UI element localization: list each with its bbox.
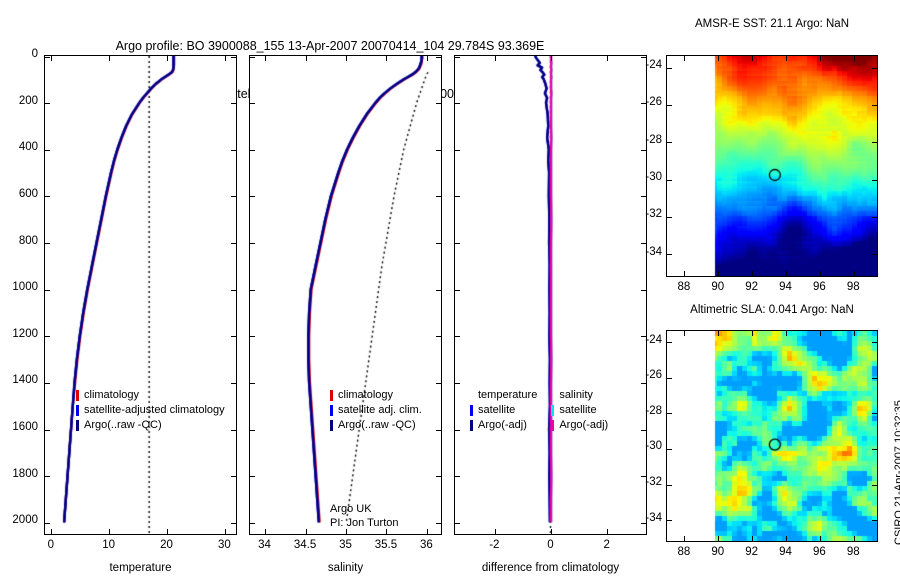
y-tick [45,430,50,431]
legend-item: satellite adj. clim. [330,403,450,418]
map-x-tick-label: 92 [737,546,767,558]
legend-item: satellite-adjusted climatology [76,403,251,418]
legend-label: satellite [559,403,596,418]
y-tick [231,476,236,477]
y-tick [641,243,646,244]
map-y-tick [872,520,877,521]
map-x-tick-label: 90 [703,546,733,558]
map-y-tick [872,449,877,450]
x-tick [427,56,428,61]
map-y-tick-label: -26 [632,369,662,381]
legend-item: climatology [76,388,251,403]
salinity-satellite-swatch [551,405,554,416]
y-tick [45,57,50,58]
y-tick [436,383,441,384]
y-tick [455,57,460,58]
map-x-tick [718,536,719,541]
y-tick-label: 1400 [0,374,38,386]
y-tick [45,243,50,244]
y-tick [231,57,236,58]
x-tick [109,56,110,61]
map-x-tick [684,331,685,336]
x-tick [607,529,608,534]
y-tick [45,523,50,524]
y-tick-label: 1200 [0,328,38,340]
x-tick [495,56,496,61]
x-tick [51,529,52,534]
y-tick [455,150,460,151]
map-y-tick [872,342,877,343]
map-y-tick [667,449,672,450]
map-y-tick [667,342,672,343]
y-tick-label: 600 [0,188,38,200]
program-name: Argo UK [330,502,398,516]
legend-label: climatology [84,388,139,403]
y-tick [641,150,646,151]
map-x-tick [820,56,821,61]
temperature-satellite-swatch [470,405,473,416]
map-x-tick [718,56,719,61]
legend-item: Argo(-adj) [470,418,537,433]
map-x-tick [718,271,719,276]
title-line-1: Argo profile: BO 3900088_155 13-Apr-2007… [0,38,660,54]
map-x-tick-label: 98 [838,546,868,558]
difference-axis-label: difference from climatology [454,562,647,574]
difference-legend-temperature: temperature satellite Argo(-adj) [470,388,537,433]
legend-label: satellite adj. clim. [338,403,422,418]
y-tick [641,290,646,291]
difference-legend-salinity: salinity satellite Argo(-adj) [551,388,608,433]
map-x-tick [854,536,855,541]
x-tick [551,56,552,61]
y-tick-label: 200 [0,95,38,107]
y-tick-label: 0 [0,48,38,60]
x-tick-label: 35 [326,539,366,551]
map-x-tick [854,331,855,336]
temperature-profile-canvas [45,56,236,534]
legend-header: temperature [470,388,537,403]
map-x-tick [854,56,855,61]
map-y-tick-label: -26 [632,96,662,108]
map-x-tick-label: 94 [771,281,801,293]
legend-item: Argo(..raw -QC) [76,418,251,433]
y-tick [641,57,646,58]
x-tick [265,56,266,61]
x-tick-label: 20 [147,539,187,551]
y-tick [436,243,441,244]
sla-map-canvas [667,331,877,541]
map-y-tick [667,378,672,379]
map-y-tick-label: -28 [632,134,662,146]
x-tick-label: 0 [531,539,571,551]
principal-investigator: PI: Jon Turton [330,516,398,530]
map-x-tick [786,271,787,276]
legend-item: satellite [551,403,608,418]
y-tick [250,290,255,291]
map-x-tick-label: 90 [703,281,733,293]
x-tick [306,56,307,61]
sst-map-title: AMSR-E SST: 21.1 Argo: NaN [666,18,878,30]
temperature-axis-label: temperature [44,562,237,574]
y-tick [436,523,441,524]
map-y-tick-label: -34 [632,246,662,258]
map-y-tick [667,105,672,106]
y-tick [455,523,460,524]
map-x-tick [684,271,685,276]
y-tick [436,290,441,291]
y-tick-label: 1000 [0,281,38,293]
difference-profile-canvas [455,56,646,534]
map-y-tick [667,485,672,486]
map-y-tick [872,217,877,218]
map-y-tick-label: -30 [632,440,662,452]
x-tick-label: 34.5 [285,539,325,551]
legend-label: climatology [338,388,393,403]
y-tick [45,103,50,104]
y-tick [45,476,50,477]
legend-item: satellite [470,403,537,418]
map-y-tick [667,520,672,521]
y-tick [250,336,255,337]
map-x-tick [752,56,753,61]
y-tick [250,430,255,431]
sst-map-canvas [667,56,877,276]
map-x-tick-label: 92 [737,281,767,293]
y-tick [231,103,236,104]
salinity-profile-panel[interactable] [249,55,442,535]
map-y-tick [872,413,877,414]
argo-swatch [76,420,79,431]
x-tick [306,529,307,534]
temperature-profile-panel[interactable] [44,55,237,535]
y-tick [641,383,646,384]
y-tick [45,383,50,384]
legend-label: Argo(-adj) [559,418,608,433]
map-y-tick [872,378,877,379]
y-tick-label: 800 [0,235,38,247]
map-y-tick-label: -24 [632,334,662,346]
map-x-tick [820,331,821,336]
difference-legend: temperature satellite Argo(-adj) salinit… [470,388,608,433]
map-x-tick-label: 96 [804,281,834,293]
y-tick [250,196,255,197]
map-y-tick [667,180,672,181]
x-tick [265,529,266,534]
y-tick-label: 400 [0,141,38,153]
y-tick-label: 2000 [0,514,38,526]
map-x-tick [854,271,855,276]
map-x-tick [752,271,753,276]
temperature-legend: climatology satellite-adjusted climatolo… [76,388,251,433]
map-y-tick [872,485,877,486]
sst-map-panel[interactable] [666,55,878,277]
y-tick [231,243,236,244]
y-tick [231,290,236,291]
y-tick [436,476,441,477]
map-y-tick-label: -30 [632,171,662,183]
legend-item: climatology [330,388,450,403]
y-tick-label: 1600 [0,421,38,433]
map-y-tick [667,142,672,143]
difference-profile-panel[interactable] [454,55,647,535]
satellite-swatch [330,405,333,416]
map-y-tick [667,217,672,218]
map-y-tick [667,413,672,414]
y-tick [250,243,255,244]
map-x-tick [752,536,753,541]
csiro-timestamp: CSIRO 21-Apr-2007 10:32:35 [893,400,900,545]
x-tick [551,529,552,534]
y-tick-label: 1800 [0,468,38,480]
y-tick [250,150,255,151]
argo-program-annotation: Argo UK PI: Jon Turton [330,502,398,530]
map-x-tick [684,536,685,541]
salinity-axis-label: salinity [249,562,442,574]
salinity-profile-canvas [250,56,441,534]
satellite-swatch [76,405,79,416]
map-x-tick [752,331,753,336]
map-x-tick [684,56,685,61]
legend-label: Argo(..raw -QC) [84,418,162,433]
map-y-tick [872,68,877,69]
legend-header: salinity [551,388,608,403]
y-tick [45,336,50,337]
map-y-tick [872,105,877,106]
y-tick [436,196,441,197]
y-tick [455,476,460,477]
map-y-tick [667,68,672,69]
map-y-tick-label: -28 [632,405,662,417]
map-x-tick [786,56,787,61]
legend-label: Argo(-adj) [478,418,527,433]
x-tick-label: 2 [587,539,627,551]
map-y-tick-label: -32 [632,208,662,220]
legend-item: Argo(..raw -QC) [330,418,450,433]
map-y-tick-label: -32 [632,476,662,488]
y-tick [455,430,460,431]
y-tick [250,523,255,524]
y-tick [45,196,50,197]
x-tick [225,529,226,534]
map-x-tick [786,536,787,541]
x-tick [51,56,52,61]
x-tick-label: 30 [204,539,244,551]
y-tick [45,150,50,151]
salinity-legend: climatology satellite adj. clim. Argo(..… [330,388,450,433]
y-tick [455,383,460,384]
y-tick [231,336,236,337]
sla-map-panel[interactable] [666,330,878,542]
y-tick [455,103,460,104]
x-tick [386,56,387,61]
map-x-tick [786,331,787,336]
y-tick [231,150,236,151]
map-y-tick-label: -24 [632,59,662,71]
x-tick [167,529,168,534]
y-tick [455,243,460,244]
map-x-tick [718,331,719,336]
y-tick [455,196,460,197]
map-y-tick [872,180,877,181]
map-y-tick-label: -34 [632,512,662,524]
y-tick [455,336,460,337]
x-tick [109,529,110,534]
y-tick [231,383,236,384]
x-tick-label: 10 [89,539,129,551]
y-tick [231,196,236,197]
sla-map-title: Altimetric SLA: 0.041 Argo: NaN [666,304,878,316]
y-tick [250,383,255,384]
y-tick [250,476,255,477]
map-x-tick-label: 94 [771,546,801,558]
map-x-tick-label: 88 [669,281,699,293]
map-x-tick-label: 88 [669,546,699,558]
climatology-swatch [330,390,333,401]
map-y-tick [872,142,877,143]
y-tick [250,103,255,104]
x-tick [427,529,428,534]
salinity-argo-swatch [551,420,554,431]
legend-item: Argo(-adj) [551,418,608,433]
climatology-swatch [76,390,79,401]
x-tick-label: 35.5 [366,539,406,551]
x-tick-label: 34 [245,539,285,551]
x-tick-label: 36 [406,539,446,551]
y-tick [436,57,441,58]
x-tick-label: -2 [474,539,514,551]
map-x-tick [820,536,821,541]
temperature-argo-swatch [470,420,473,431]
x-tick [167,56,168,61]
y-tick [436,336,441,337]
y-tick [436,150,441,151]
map-x-tick-label: 96 [804,546,834,558]
legend-label: Argo(..raw -QC) [338,418,416,433]
x-tick [495,529,496,534]
y-tick [641,196,646,197]
y-tick [455,290,460,291]
map-x-tick [820,271,821,276]
x-tick [607,56,608,61]
y-tick [45,290,50,291]
y-tick [250,57,255,58]
legend-label: satellite-adjusted climatology [84,403,225,418]
x-tick [225,56,226,61]
map-x-tick-label: 98 [838,281,868,293]
argo-swatch [330,420,333,431]
map-y-tick [872,254,877,255]
y-tick [641,430,646,431]
x-tick-label: 0 [31,539,71,551]
y-tick [231,523,236,524]
legend-label: satellite [478,403,515,418]
map-y-tick [667,254,672,255]
x-tick [346,56,347,61]
y-tick [436,103,441,104]
